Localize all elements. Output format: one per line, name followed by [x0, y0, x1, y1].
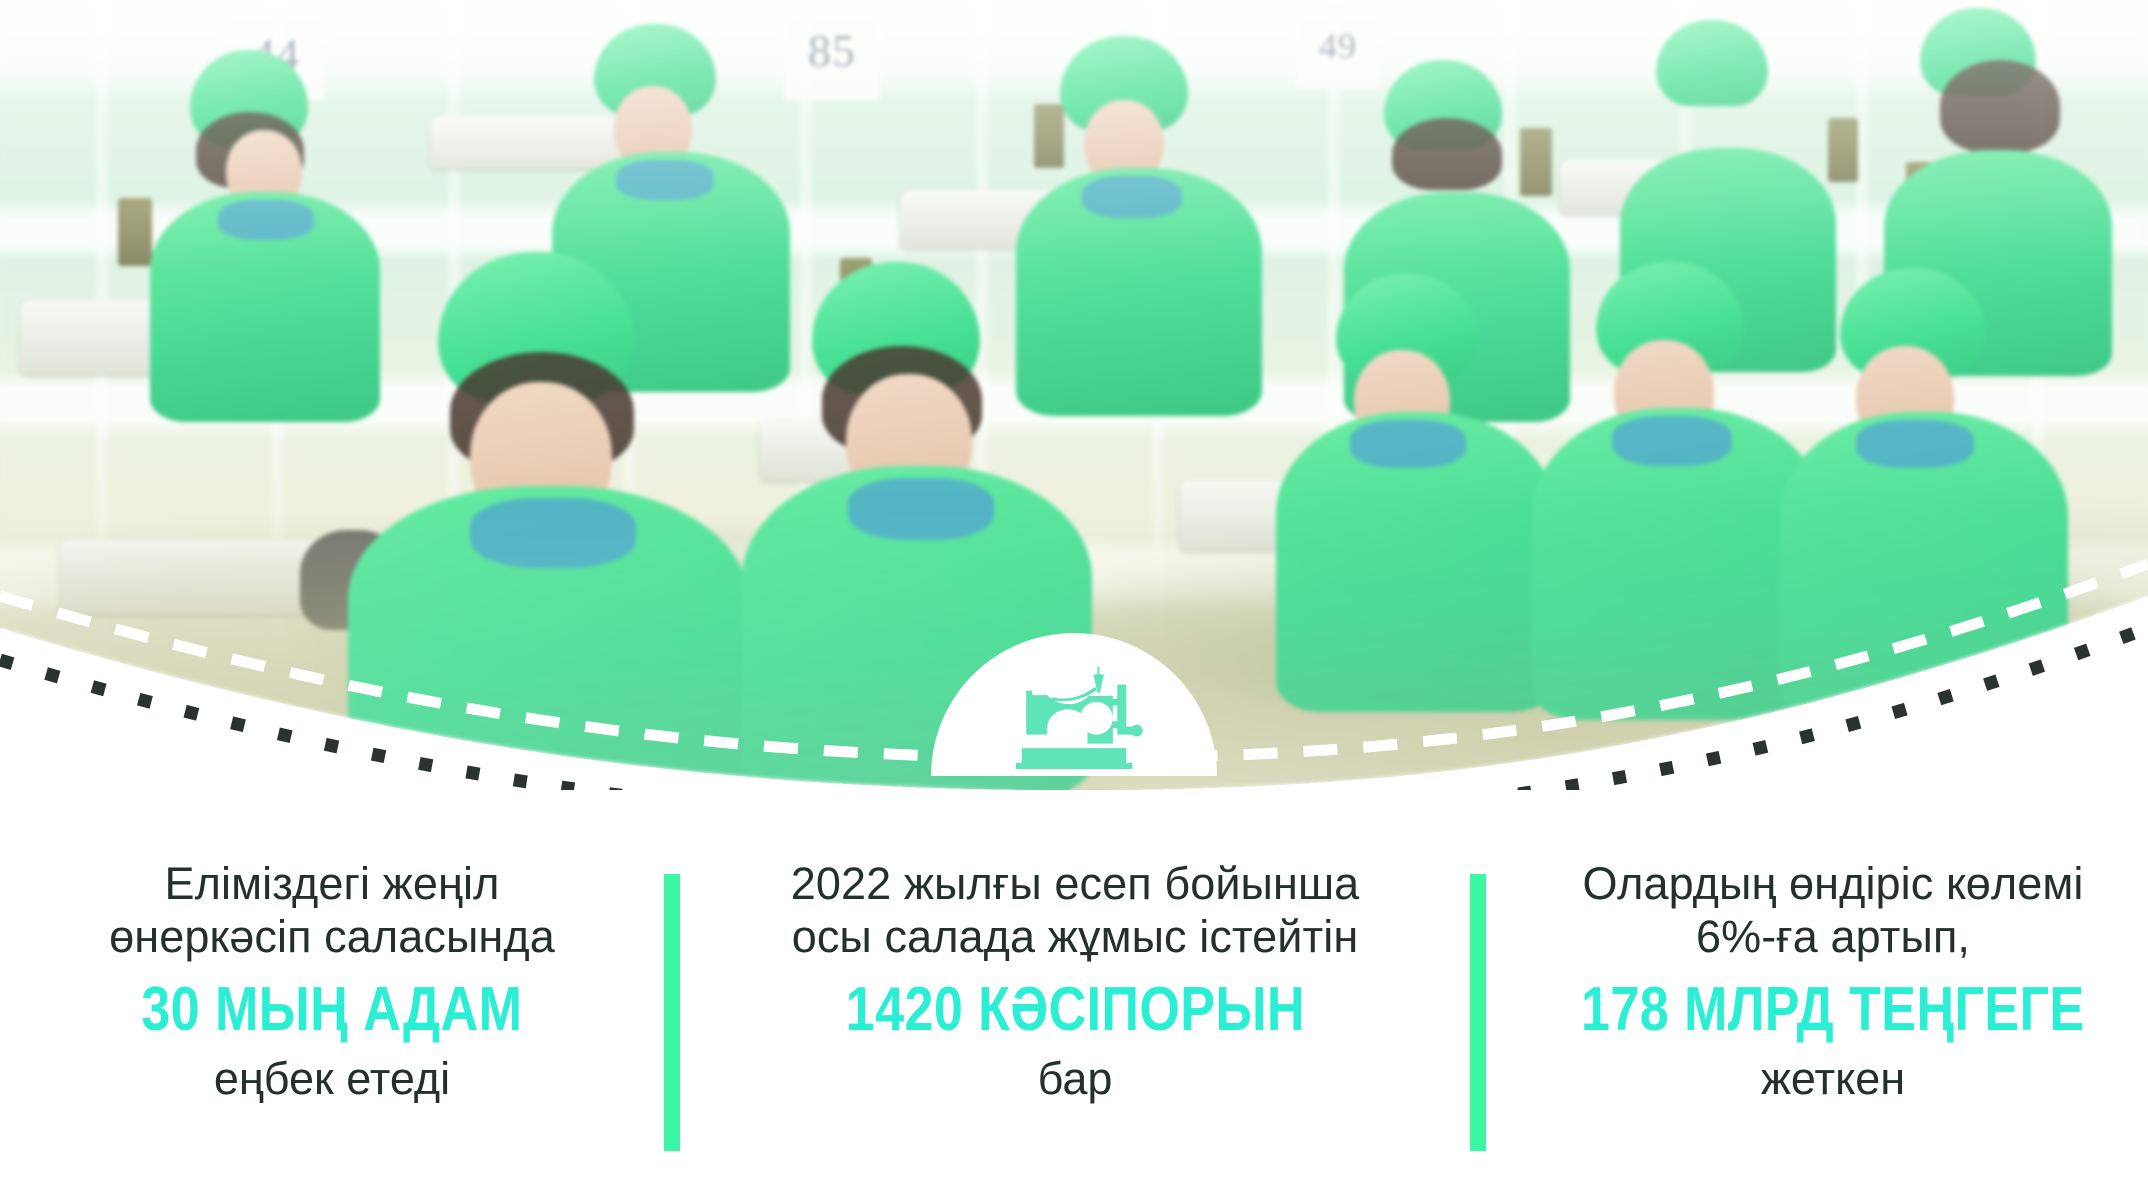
column-divider-1 [664, 874, 680, 1151]
stat-highlight-2: 1420 КӘСІПОРЫН [845, 979, 1304, 1041]
stat-highlight-3: 178 МЛРД ТЕҢГЕГЕ [1581, 979, 2085, 1041]
stat-highlight-1: 30 МЫҢ АДАМ [141, 979, 522, 1041]
stat-column-3: Олардың өндіріс көлемі 6%-ға артып, 178 … [1486, 846, 2148, 1178]
stat-column-2: 2022 жылғы есеп бойынша осы салада жұмыс… [680, 846, 1470, 1178]
stat-tail-3: жеткен [1761, 1053, 1905, 1106]
stat-lead-2: 2022 жылғы есеп бойынша осы салада жұмыс… [791, 858, 1360, 963]
factory-photo-block: 44 85 49 [0, 0, 2148, 790]
stat-lead-1: Еліміздегі жеңіл өнеркәсіп саласында [109, 858, 555, 963]
column-divider-2 [1470, 874, 1486, 1151]
sewing-machine-icon [999, 660, 1149, 772]
stat-tail-2: бар [1038, 1053, 1113, 1106]
stats-row: Еліміздегі жеңіл өнеркәсіп саласында 30 … [0, 846, 2148, 1178]
stat-tail-1: еңбек етеді [214, 1053, 450, 1106]
stat-column-1: Еліміздегі жеңіл өнеркәсіп саласында 30 … [0, 846, 664, 1178]
stat-lead-3: Олардың өндіріс көлемі 6%-ға артып, [1582, 858, 2083, 963]
infographic-root: 44 85 49 [0, 0, 2148, 1178]
